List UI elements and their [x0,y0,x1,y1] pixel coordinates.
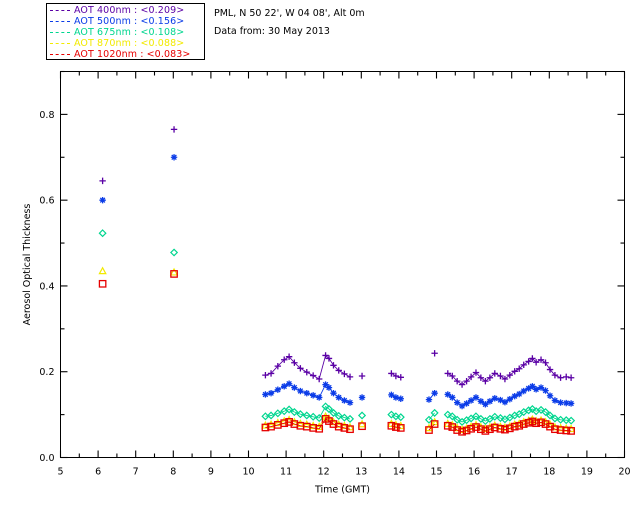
marker-asterisk [316,394,322,400]
marker-asterisk [286,381,292,387]
marker-asterisk [341,397,347,403]
x-tick-label: 14 [393,467,405,478]
marker-plus [341,371,347,377]
marker-plus [310,372,316,378]
marker-asterisk [336,394,342,400]
marker-asterisk [487,398,493,404]
x-tick-label: 20 [618,467,630,478]
marker-asterisk [262,391,268,397]
marker-plus [563,374,569,380]
marker-asterisk [568,400,574,406]
marker-plus [497,373,503,379]
y-tick-label: 0.6 [39,196,54,207]
marker-asterisk [326,384,332,390]
marker-asterisk [304,390,310,396]
marker-asterisk [268,390,274,396]
aot-timeseries-chart: 5678910111213141516171819200.00.20.40.60… [0,0,640,512]
marker-plus [304,369,310,375]
marker-asterisk [393,394,399,400]
marker-diamond [171,249,177,255]
marker-asterisk [454,399,460,405]
x-tick-label: 17 [506,467,518,478]
x-tick-label: 15 [430,467,442,478]
marker-triangle [171,269,177,275]
marker-asterisk [516,391,522,397]
marker-asterisk [492,395,498,401]
x-tick-label: 6 [95,467,101,478]
marker-asterisk [171,154,177,160]
marker-plus [316,376,322,382]
series-aot-400nm [99,126,574,388]
x-tick-label: 9 [208,467,214,478]
marker-plus [459,381,465,387]
marker-asterisk [552,397,558,403]
x-tick-label: 8 [170,467,176,478]
marker-asterisk [463,400,469,406]
marker-plus [262,372,268,378]
marker-diamond [347,416,353,422]
marker-asterisk [297,388,303,394]
marker-asterisk [398,396,404,402]
x-tick-label: 19 [581,467,593,478]
series-aot-1020nm [99,271,574,435]
marker-asterisk [473,394,479,400]
marker-asterisk [431,390,437,396]
x-tick-label: 18 [543,467,555,478]
marker-asterisk [468,397,474,403]
marker-asterisk [507,396,513,402]
marker-asterisk [482,401,488,407]
marker-plus [359,373,365,379]
y-tick-label: 0.8 [39,110,54,121]
y-tick-label: 0.4 [39,281,54,292]
marker-asterisk [538,384,544,390]
y-tick-label: 0.0 [39,453,54,464]
x-tick-label: 7 [133,467,139,478]
marker-triangle [99,268,105,274]
marker-asterisk [426,396,432,402]
x-tick-label: 16 [468,467,480,478]
x-tick-label: 12 [318,467,330,478]
marker-square [99,281,105,287]
marker-asterisk [359,394,365,400]
marker-asterisk [445,391,451,397]
marker-asterisk [449,394,455,400]
marker-asterisk [330,390,336,396]
marker-asterisk [478,398,484,404]
series-aot-870nm [99,268,574,433]
marker-asterisk [542,387,548,393]
marker-plus [171,126,177,132]
marker-asterisk [547,393,553,399]
marker-plus [431,350,437,356]
x-tick-label: 5 [57,467,63,478]
marker-plus [347,374,353,380]
marker-asterisk [275,387,281,393]
x-axis-title: Time (GMT) [314,485,370,496]
marker-diamond [359,412,365,418]
marker-asterisk [347,399,353,405]
marker-plus [99,178,105,184]
marker-plus [557,375,563,381]
marker-plus [568,375,574,381]
marker-asterisk [99,197,105,203]
y-tick-label: 0.2 [39,367,54,378]
marker-plus [542,360,548,366]
x-tick-label: 10 [242,467,254,478]
marker-asterisk [291,384,297,390]
marker-plus [398,374,404,380]
x-tick-label: 13 [355,467,367,478]
marker-diamond [99,230,105,236]
y-axis-title: Aerosol Optical Thickness [22,204,33,326]
marker-asterisk [310,392,316,398]
marker-asterisk [557,399,563,405]
x-tick-label: 11 [280,467,292,478]
marker-asterisk [502,399,508,405]
marker-triangle [359,421,365,427]
